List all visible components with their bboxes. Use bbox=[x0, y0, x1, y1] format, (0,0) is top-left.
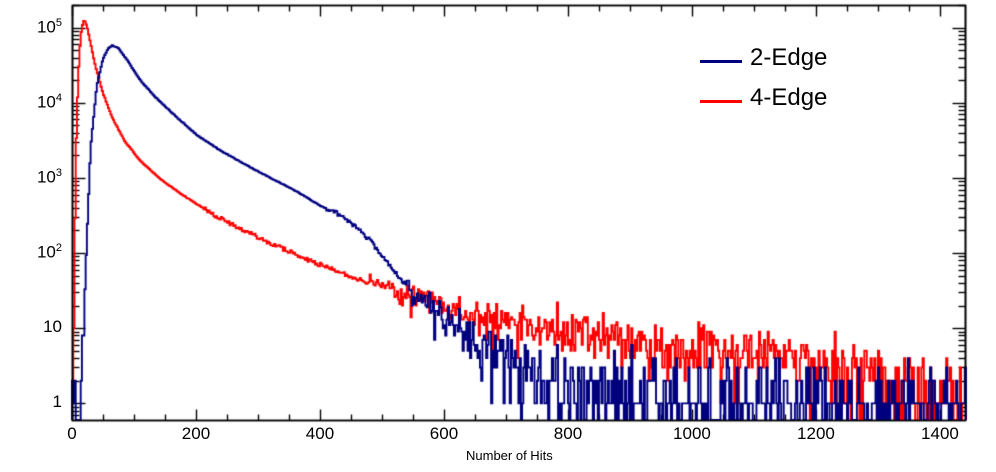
x-tick-label: 200 bbox=[166, 424, 226, 444]
y-tick-label: 104 bbox=[0, 92, 62, 113]
y-tick-label: 1 bbox=[0, 392, 62, 412]
legend-label-4-edge: 4-Edge bbox=[750, 84, 827, 112]
histogram-plot: 2-Edge 4-Edge Number of Hits 02004006008… bbox=[0, 0, 996, 472]
legend-swatch-2-edge bbox=[700, 60, 742, 63]
x-tick-label: 600 bbox=[414, 424, 474, 444]
y-tick-label: 103 bbox=[0, 167, 62, 188]
legend-item-2-edge: 2-Edge bbox=[700, 42, 900, 82]
y-tick-label: 105 bbox=[0, 17, 62, 38]
x-tick-label: 0 bbox=[42, 424, 102, 444]
y-tick-label: 102 bbox=[0, 242, 62, 263]
x-axis-title: Number of Hits bbox=[466, 448, 553, 463]
x-tick-label: 1400 bbox=[910, 424, 970, 444]
y-tick-label: 10 bbox=[0, 317, 62, 337]
legend-label-2-edge: 2-Edge bbox=[750, 44, 827, 72]
legend: 2-Edge 4-Edge bbox=[700, 42, 900, 122]
x-tick-label: 800 bbox=[538, 424, 598, 444]
x-tick-label: 1200 bbox=[786, 424, 846, 444]
x-tick-label: 400 bbox=[290, 424, 350, 444]
legend-item-4-edge: 4-Edge bbox=[700, 82, 900, 122]
legend-swatch-4-edge bbox=[700, 100, 742, 103]
x-tick-label: 1000 bbox=[662, 424, 722, 444]
